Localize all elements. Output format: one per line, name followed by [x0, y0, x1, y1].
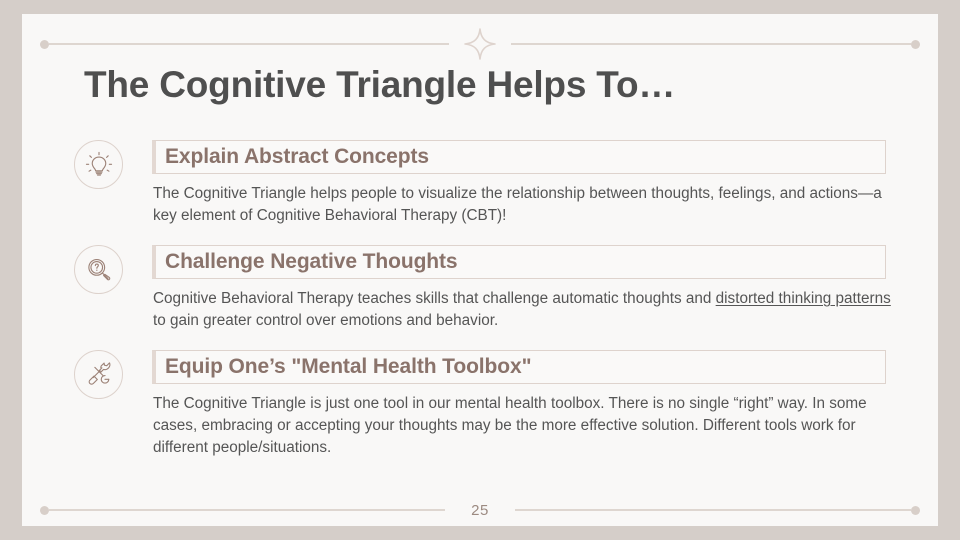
slide-card: The Cognitive Triangle Helps To… [22, 14, 938, 526]
section-heading: Explain Abstract Concepts [165, 145, 429, 169]
magnifier-glyph [84, 255, 114, 285]
body-text: The Cognitive Triangle is just one tool … [153, 395, 867, 456]
top-divider [40, 38, 920, 50]
section-body: Cognitive Behavioral Therapy teaches ski… [153, 279, 892, 332]
section-item: Explain Abstract Concepts The Cognitive … [22, 140, 938, 245]
section-heading: Challenge Negative Thoughts [165, 250, 458, 274]
divider-dot-left [40, 506, 49, 515]
lightbulb-icon [74, 140, 123, 189]
four-point-sparkle-icon [463, 27, 497, 61]
section-header-box: Challenge Negative Thoughts [152, 245, 886, 279]
sparkle-ornament [463, 27, 497, 61]
tools-glyph [84, 360, 114, 390]
slide-frame: The Cognitive Triangle Helps To… [0, 0, 960, 540]
section-item: Equip One’s "Mental Health Toolbox" The … [22, 350, 938, 470]
page-number: 25 [471, 503, 489, 518]
divider-dot-left [40, 40, 49, 49]
sections-list: Explain Abstract Concepts The Cognitive … [22, 140, 938, 470]
body-text: The Cognitive Triangle helps people to v… [153, 185, 882, 224]
section-body: The Cognitive Triangle is just one tool … [153, 384, 892, 460]
body-link-distorted-thinking-patterns[interactable]: distorted thinking patterns [716, 290, 891, 307]
divider-line-right [511, 43, 911, 45]
page-title: The Cognitive Triangle Helps To… [84, 64, 924, 106]
section-item: Challenge Negative Thoughts Cognitive Be… [22, 245, 938, 350]
divider-line-left [49, 43, 449, 45]
section-body: The Cognitive Triangle helps people to v… [153, 174, 892, 227]
section-header-box: Equip One’s "Mental Health Toolbox" [152, 350, 886, 384]
body-text-tail: to gain greater control over emotions an… [153, 312, 498, 329]
divider-dot-right [911, 506, 920, 515]
divider-dot-right [911, 40, 920, 49]
lightbulb-glyph [84, 150, 114, 180]
divider-line-left [49, 509, 445, 511]
divider-line-right [515, 509, 911, 511]
section-heading: Equip One’s "Mental Health Toolbox" [165, 355, 531, 379]
bottom-divider: 25 [40, 504, 920, 516]
magnifier-question-icon [74, 245, 123, 294]
body-text: Cognitive Behavioral Therapy teaches ski… [153, 290, 716, 307]
tools-icon [74, 350, 123, 399]
section-header-box: Explain Abstract Concepts [152, 140, 886, 174]
